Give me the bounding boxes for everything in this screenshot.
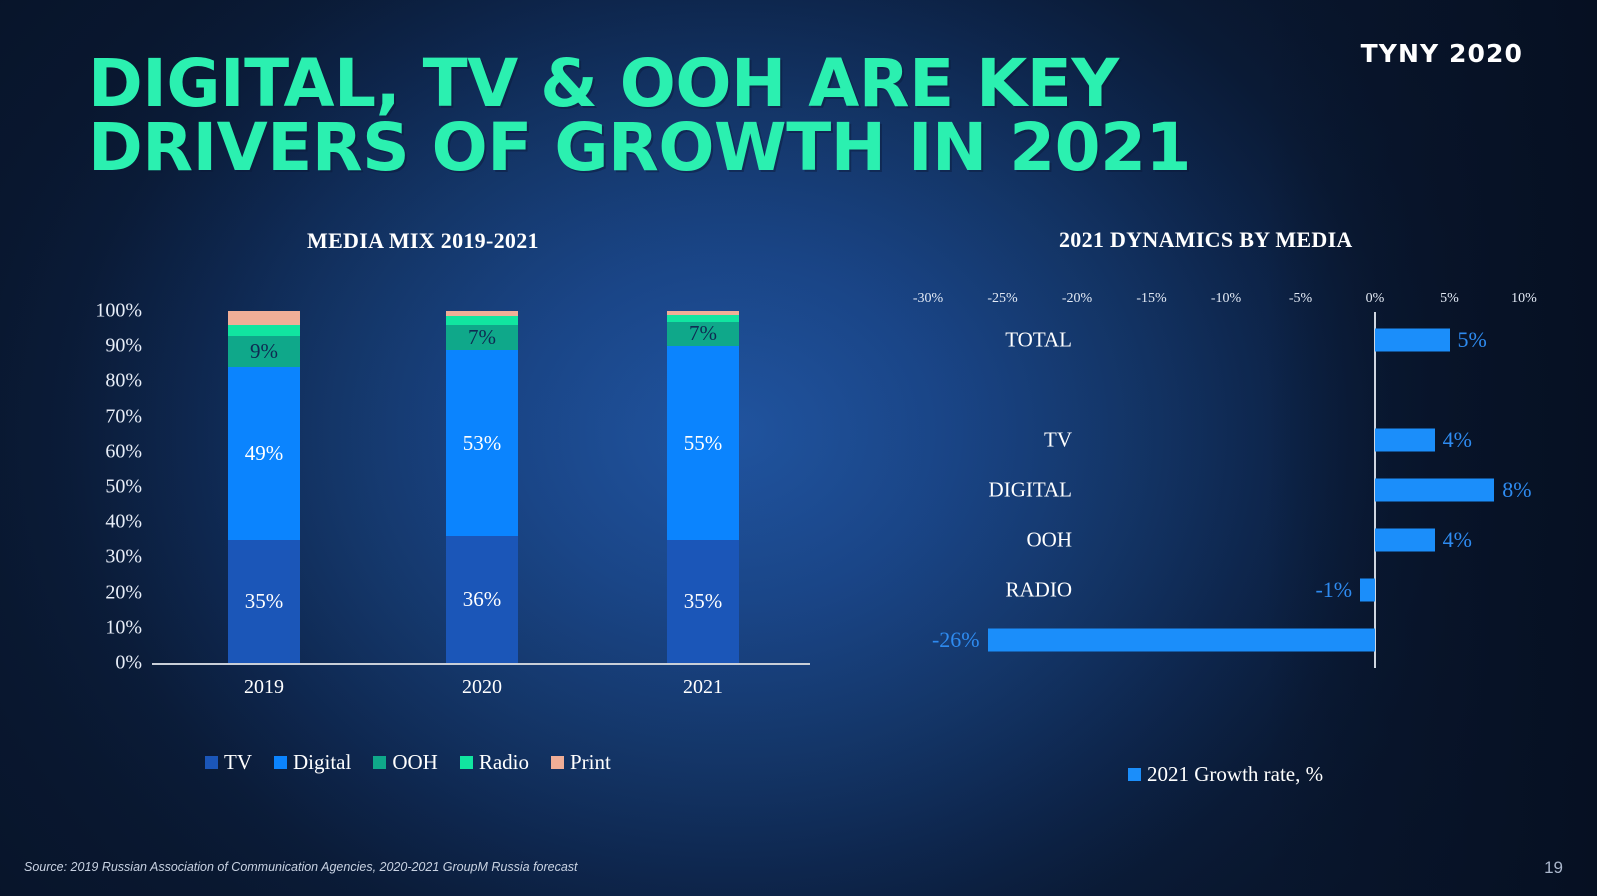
media-mix-segment: 55%: [667, 346, 739, 540]
media-mix-segment: 35%: [667, 540, 739, 663]
media-mix-legend-label: Digital: [293, 750, 351, 775]
legend-swatch-icon: [205, 756, 218, 769]
media-mix-legend-item: TV: [205, 750, 252, 775]
media-mix-segment: [667, 311, 739, 315]
media-mix-chart: 100%90%80%70%60%50%40%30%20%10%0% 35%49%…: [0, 0, 860, 800]
media-mix-bar-column: 35%55%7%: [667, 311, 739, 663]
growth-category-label: OOH: [872, 528, 1072, 553]
media-mix-segment-label: 7%: [689, 323, 717, 344]
media-mix-legend-label: Radio: [479, 750, 529, 775]
growth-bar: [1375, 429, 1435, 452]
media-mix-segment: 49%: [228, 367, 300, 539]
media-mix-segment: 35%: [228, 540, 300, 663]
media-mix-legend-item: Radio: [460, 750, 529, 775]
growth-x-tick: -5%: [1271, 291, 1331, 307]
media-mix-baseline: [152, 663, 810, 665]
media-mix-segment-label: 36%: [463, 589, 502, 610]
media-mix-segment-label: 53%: [463, 433, 502, 454]
legend-swatch-icon: [460, 756, 473, 769]
growth-bar: [1360, 579, 1375, 602]
media-mix-segment-label: 49%: [245, 443, 284, 464]
growth-category-label: TOTAL: [872, 328, 1072, 353]
media-mix-segment: 36%: [446, 536, 518, 663]
growth-chart: -30%-25%-20%-15%-10%-5%0%5%10% TOTALTVDI…: [810, 0, 1597, 800]
growth-bar-value: 5%: [1458, 327, 1487, 353]
growth-x-tick: 5%: [1420, 291, 1480, 307]
media-mix-segment-label: 35%: [245, 591, 284, 612]
growth-x-tick: -15%: [1122, 291, 1182, 307]
media-mix-segment: [667, 315, 739, 322]
media-mix-segment: 53%: [446, 350, 518, 537]
media-mix-y-tick: 80%: [72, 370, 142, 393]
media-mix-y-tick: 20%: [72, 581, 142, 604]
growth-bar-value: 4%: [1443, 427, 1472, 453]
media-mix-legend-item: Print: [551, 750, 611, 775]
source-note: Source: 2019 Russian Association of Comm…: [24, 860, 578, 874]
media-mix-segment: [228, 311, 300, 325]
growth-bar: [1375, 529, 1435, 552]
growth-bar-value: 4%: [1443, 527, 1472, 553]
media-mix-segment-label: 35%: [684, 591, 723, 612]
media-mix-y-tick: 10%: [72, 616, 142, 639]
media-mix-segment: 7%: [446, 325, 518, 350]
page-number: 19: [1544, 858, 1563, 878]
growth-category-label: DIGITAL: [872, 478, 1072, 503]
media-mix-x-tick: 2019: [204, 676, 324, 699]
media-mix-x-tick: 2020: [422, 676, 542, 699]
media-mix-segment-label: 9%: [250, 341, 278, 362]
growth-legend: 2021 Growth rate, %: [1128, 762, 1323, 787]
media-mix-segment-label: 7%: [468, 327, 496, 348]
media-mix-segment: 9%: [228, 336, 300, 368]
legend-swatch-icon: [551, 756, 564, 769]
growth-x-tick: -10%: [1196, 291, 1256, 307]
media-mix-y-tick: 50%: [72, 476, 142, 499]
media-mix-bar-column: 35%49%9%: [228, 311, 300, 663]
media-mix-y-tick: 90%: [72, 335, 142, 358]
media-mix-segment: [446, 311, 518, 316]
media-mix-y-tick: 40%: [72, 511, 142, 534]
growth-x-tick: 0%: [1345, 291, 1405, 307]
growth-bar-value: 8%: [1502, 477, 1531, 503]
media-mix-y-tick: 70%: [72, 405, 142, 428]
media-mix-segment: 7%: [667, 322, 739, 347]
media-mix-y-tick: 30%: [72, 546, 142, 569]
media-mix-bar-column: 36%53%7%: [446, 311, 518, 663]
media-mix-x-tick: 2021: [643, 676, 763, 699]
growth-legend-label: 2021 Growth rate, %: [1147, 762, 1323, 787]
growth-category-label: TV: [872, 428, 1072, 453]
growth-category-labels: TOTALTVDIGITALOOHRADIOPRINT: [810, 0, 1072, 800]
media-mix-legend-label: TV: [224, 750, 252, 775]
media-mix-legend-item: Digital: [274, 750, 351, 775]
media-mix-legend-label: Print: [570, 750, 611, 775]
growth-bar-value: -26%: [932, 627, 980, 653]
growth-category-label: RADIO: [872, 578, 1072, 603]
growth-bar: [1375, 329, 1450, 352]
media-mix-legend-label: OOH: [392, 750, 438, 775]
media-mix-segment: [228, 325, 300, 336]
growth-bar: [988, 629, 1375, 652]
media-mix-y-axis: 100%90%80%70%60%50%40%30%20%10%0%: [72, 0, 142, 800]
media-mix-segment-label: 55%: [684, 433, 723, 454]
growth-bar: [1375, 479, 1494, 502]
media-mix-segment: [446, 316, 518, 325]
legend-swatch-icon: [1128, 768, 1141, 781]
growth-x-tick: 10%: [1494, 291, 1554, 307]
media-mix-legend-item: OOH: [373, 750, 438, 775]
slide: TYNY 2020 DIGITAL, TV & OOH ARE KEY DRIV…: [0, 0, 1597, 896]
legend-swatch-icon: [274, 756, 287, 769]
media-mix-y-tick: 0%: [72, 652, 142, 675]
growth-bar-value: -1%: [1315, 577, 1352, 603]
media-mix-y-tick: 60%: [72, 440, 142, 463]
growth-legend-item: 2021 Growth rate, %: [1128, 762, 1323, 787]
media-mix-y-tick: 100%: [72, 300, 142, 323]
legend-swatch-icon: [373, 756, 386, 769]
media-mix-legend: TVDigitalOOHRadioPrint: [205, 750, 611, 775]
